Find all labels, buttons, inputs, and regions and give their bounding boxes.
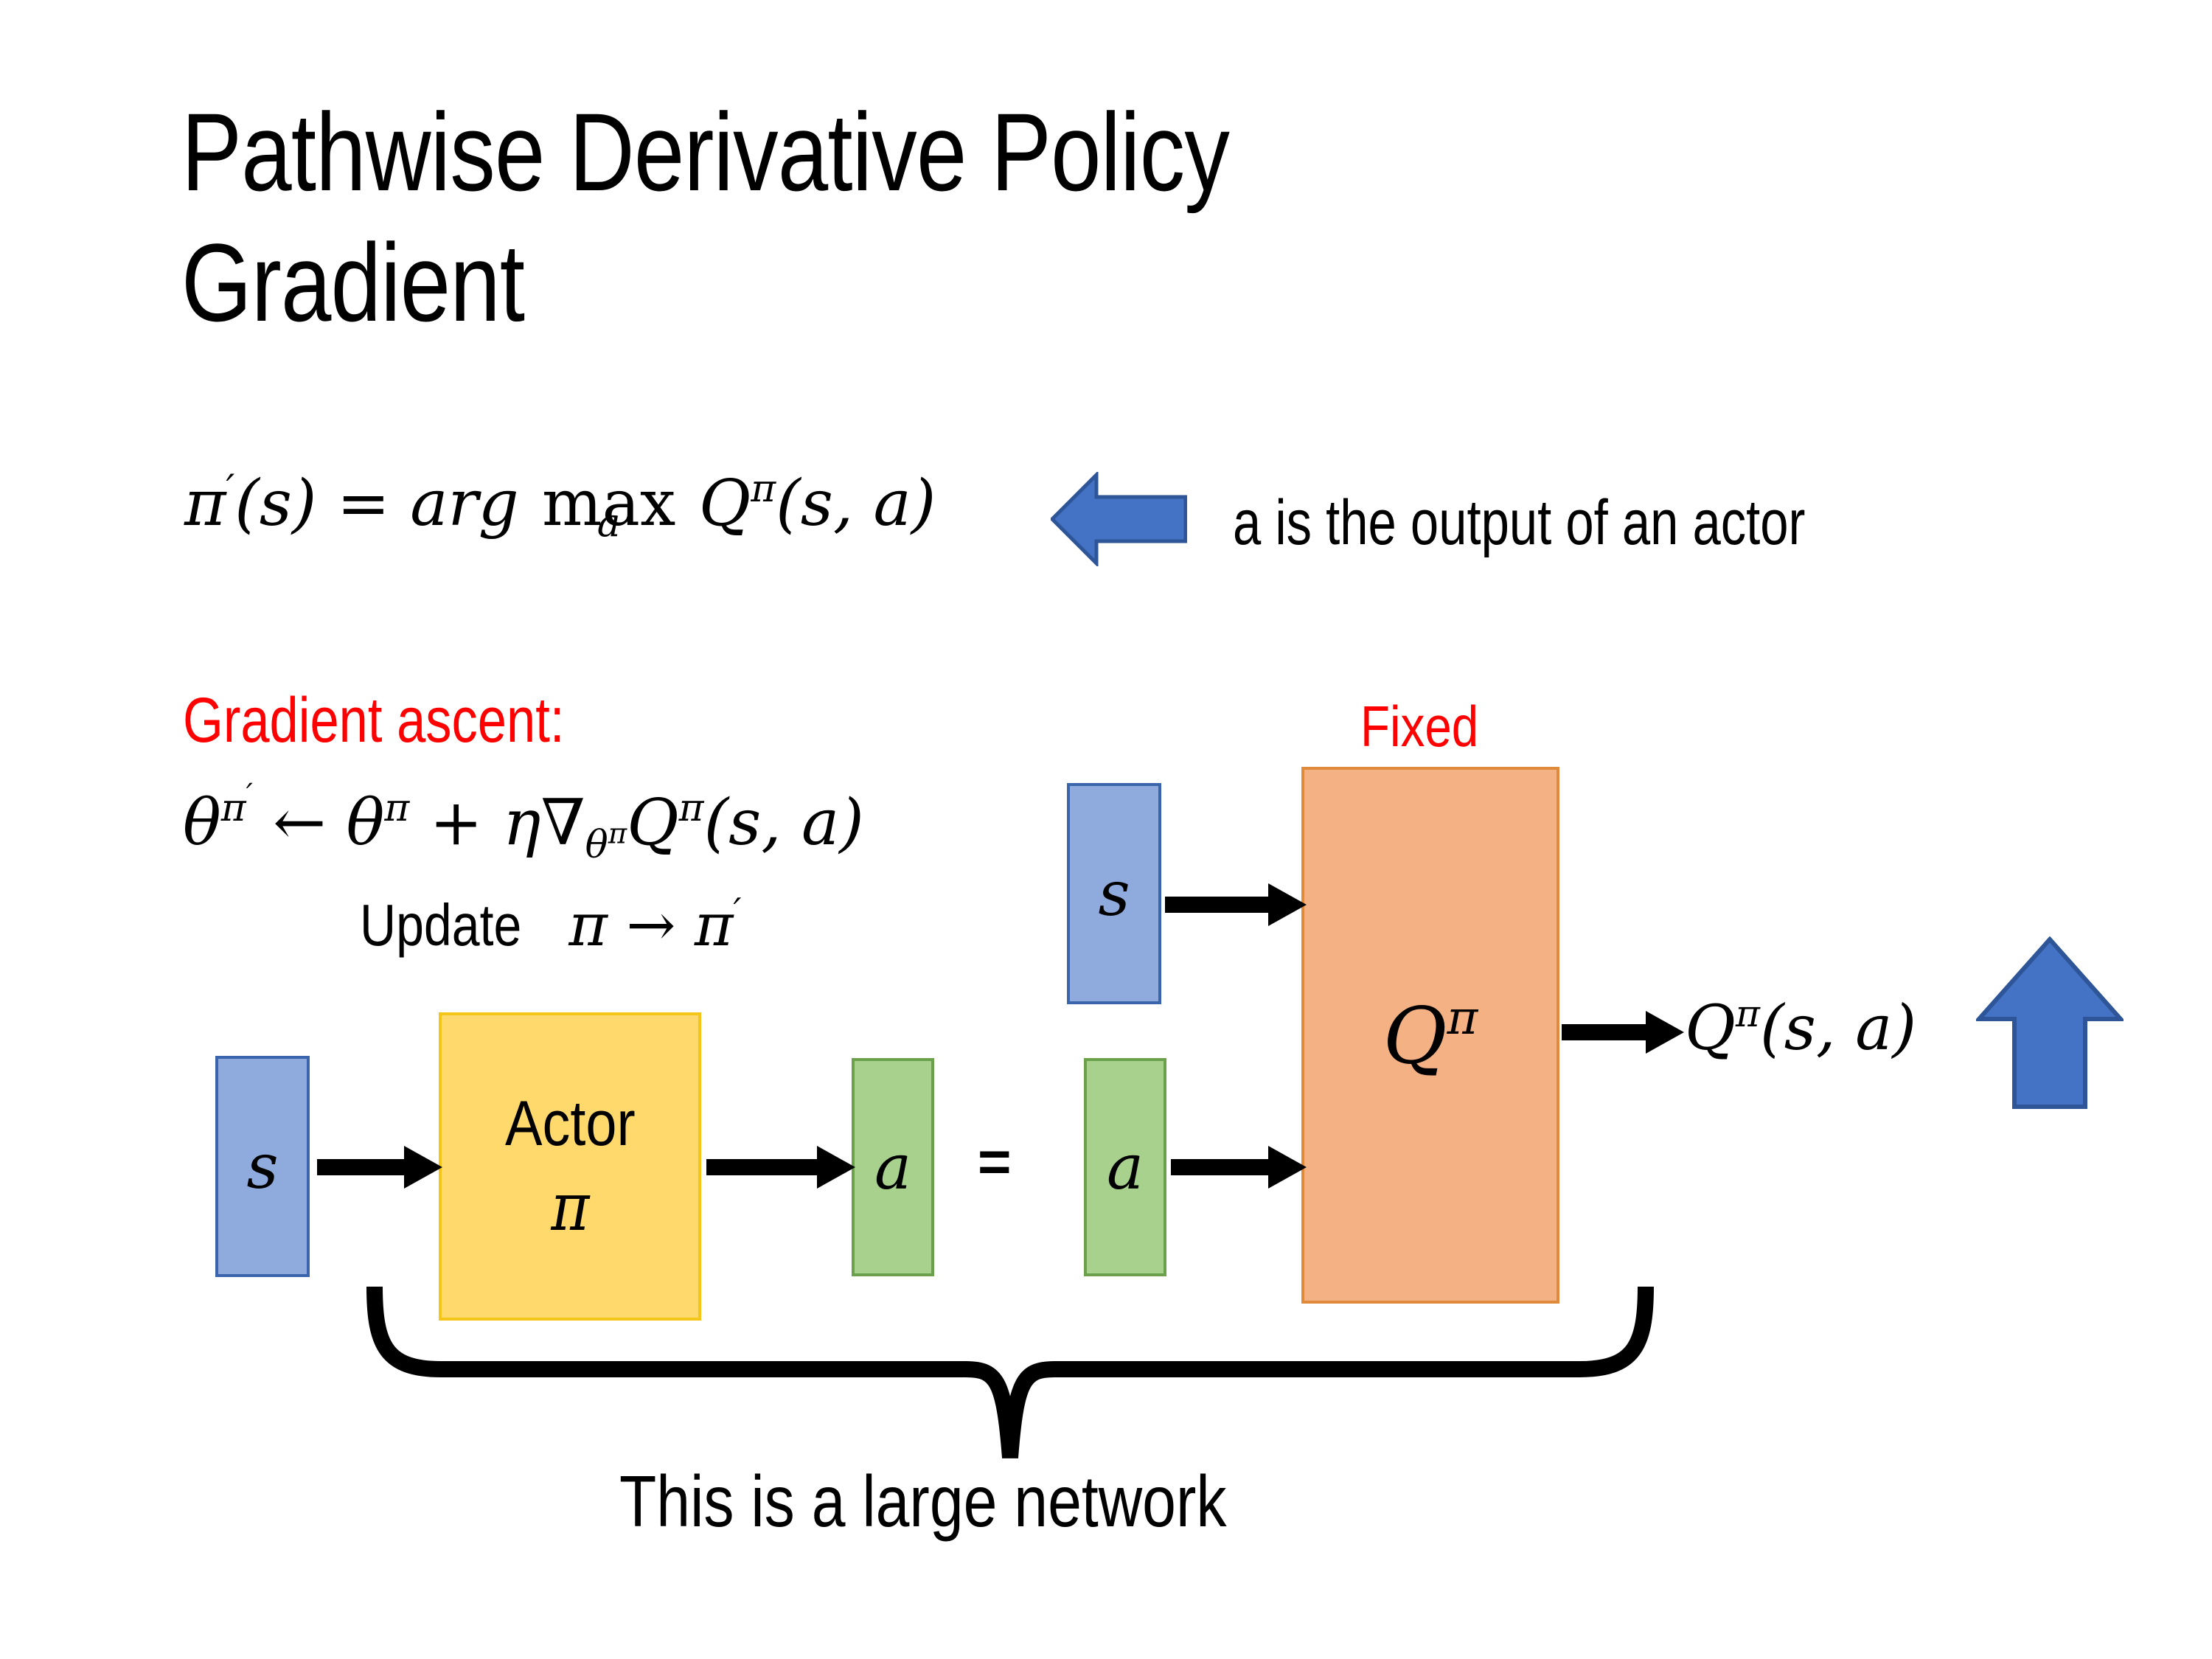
update-policy-note: Update π → π′ [360, 894, 741, 955]
actor-block[interactable]: Actor π [439, 1012, 701, 1321]
arrow-action-to-critic [1171, 1141, 1308, 1193]
critic-q-block[interactable]: Qπ [1301, 767, 1559, 1304]
state-block-top[interactable]: s [1067, 783, 1161, 1004]
critic-q-letter: Q [1383, 991, 1447, 1082]
update-pi-prime: π [695, 891, 734, 959]
eq-top-q: Q [699, 467, 751, 540]
action-block-left-label: a [874, 1136, 911, 1198]
critic-output-args: (s, a) [1760, 992, 1916, 1064]
action-block-right[interactable]: a [1084, 1058, 1166, 1276]
critic-output-label: Qπ(s, a) [1685, 995, 1916, 1059]
update-word: Update [360, 896, 521, 955]
up-arrow-icon [1976, 936, 2124, 1110]
eq-top-arg: (s) [234, 467, 316, 540]
actor-block-title: Actor [505, 1088, 636, 1159]
eq-grad-nabla-sub: θπ [585, 823, 627, 867]
left-arrow-icon [1051, 472, 1187, 566]
eq-top-pi: π [184, 467, 226, 540]
eq-grad-theta: θ [183, 786, 221, 860]
critic-output-superscript: π [1736, 992, 1760, 1035]
grouping-brace [361, 1287, 1659, 1464]
eq-grad-assign-arrow: ← [273, 786, 326, 860]
eq-grad-nabla: ∇ [541, 786, 585, 860]
action-block-right-label: a [1107, 1136, 1144, 1198]
eq-grad-q-sup: π [679, 786, 704, 830]
eq-grad-nabla-sub-pi: π [608, 817, 627, 850]
arrow-state-to-critic [1165, 879, 1308, 931]
eq-top-max-subscript: a [542, 504, 675, 543]
eq-grad-nabla-sub-theta: θ [585, 823, 608, 867]
actor-output-note: a is the output of an actor [1233, 487, 1805, 560]
state-block-bottom-label: s [246, 1135, 278, 1197]
page-title: Pathwise Derivative Policy Gradient [181, 87, 1451, 348]
arrow-actor-to-action [706, 1141, 857, 1193]
eq-grad-theta-sup: π′ [221, 786, 253, 830]
state-block-bottom[interactable]: s [215, 1056, 310, 1277]
eq-grad-theta2-sup: π [384, 786, 409, 830]
eq-grad-plus: + [430, 786, 483, 860]
arrow-critic-to-output [1562, 1006, 1686, 1058]
eq-grad-theta-sup-pi: π [221, 786, 246, 830]
actor-block-policy-symbol: π [505, 1169, 636, 1246]
critic-output-q: Q [1685, 992, 1736, 1064]
network-caption: This is a large network [619, 1460, 1227, 1543]
eq-top-q-args: (s, a) [776, 467, 936, 540]
update-prime-mark: ′ [733, 891, 741, 932]
eq-top-arg-word: arg [410, 467, 518, 540]
eq-grad-q: Q [627, 786, 679, 860]
actor-block-label: Actor π [505, 1088, 636, 1245]
eq-grad-theta2: θ [347, 786, 385, 860]
gradient-ascent-heading: Gradient ascent: [183, 684, 564, 757]
eq-grad-eta: η [503, 786, 541, 860]
eq-top-q-superscript: π [751, 467, 776, 511]
equation-gradient-ascent: θπ′ ← θπ + η∇θπQπ(s, a) [183, 780, 864, 864]
eq-top-equals: = [337, 467, 390, 540]
slide-canvas: Pathwise Derivative Policy Gradient π′(s… [0, 0, 2212, 1659]
action-block-left[interactable]: a [852, 1058, 934, 1276]
eq-top-max: max a [542, 472, 675, 535]
update-pi: π [568, 891, 608, 959]
eq-grad-theta-sup-prime: ′ [246, 778, 253, 812]
critic-q-block-label: Qπ [1383, 995, 1478, 1075]
state-block-top-label: s [1098, 863, 1130, 925]
eq-top-prime: ′ [226, 467, 235, 511]
equation-optimal-policy: π′(s) = arg max a Qπ(s, a) [184, 470, 936, 535]
equals-sign: = [978, 1128, 1012, 1195]
fixed-label: Fixed [1360, 693, 1478, 760]
arrow-state-to-actor [317, 1141, 444, 1193]
update-arrow-glyph: → [626, 891, 675, 959]
eq-grad-q-args: (s, a) [704, 786, 864, 860]
critic-q-superscript: π [1447, 990, 1478, 1045]
